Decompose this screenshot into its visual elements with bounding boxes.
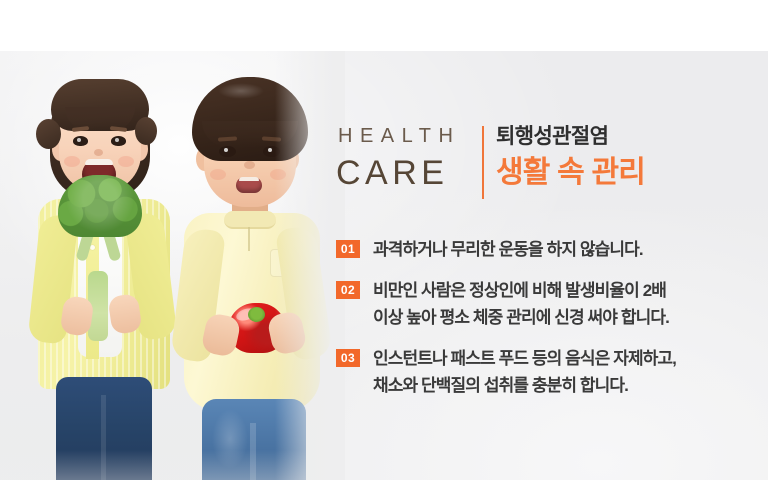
boy-hair-highlight (218, 83, 264, 99)
title-vertical-divider (482, 126, 484, 199)
brand-lockup: HEALTH CARE (336, 124, 472, 193)
girl-cheek-right (118, 156, 134, 167)
list-item: 02 비만인 사람은 정상인에 비해 발생비율이 2배 이상 높아 평소 체중 … (336, 277, 756, 331)
girl-hair-bun-left (36, 119, 61, 149)
children-photo (0, 51, 345, 480)
status-badge: 03 (336, 349, 360, 367)
girl-eye-right (111, 136, 126, 146)
boy-cheek-left (210, 169, 226, 180)
girl-eye-left (73, 136, 88, 146)
boy-nose (244, 161, 255, 169)
brand-line-health: HEALTH (338, 124, 472, 148)
photo-right-fade (275, 51, 345, 480)
banner-top-white-strip (0, 0, 768, 51)
bullet-line: 과격하거나 무리한 운동을 하지 않습니다. (373, 236, 643, 263)
bullet-text-2: 비만인 사람은 정상인에 비해 발생비율이 2배 이상 높아 평소 체중 관리에… (373, 277, 669, 331)
bullet-list: 01 과격하거나 무리한 운동을 하지 않습니다. 02 비만인 사람은 정상인… (336, 236, 756, 399)
boy-mouth (236, 177, 262, 193)
brand-line-care: CARE (336, 153, 472, 193)
bullet-line: 채소와 단백질의 섭취를 충분히 합니다. (373, 372, 676, 399)
bullet-line: 비만인 사람은 정상인에 비해 발생비율이 2배 (373, 277, 669, 304)
bullet-text-1: 과격하거나 무리한 운동을 하지 않습니다. (373, 236, 643, 263)
banner-title-row: HEALTH CARE 퇴행성관절염 생활 속 관리 (336, 124, 756, 210)
girl-hair-fringe (51, 79, 149, 131)
boy-tshirt-seam (248, 227, 250, 251)
list-item: 01 과격하거나 무리한 운동을 하지 않습니다. (336, 236, 756, 263)
list-item: 03 인스턴트나 패스트 푸드 등의 음식은 자제하고, 채소와 단백질의 섭취… (336, 345, 756, 399)
status-badge: 02 (336, 281, 360, 299)
headline-title: 생활 속 관리 (496, 154, 645, 192)
headline-group: 퇴행성관절염 생활 속 관리 (496, 124, 645, 192)
banner-text-content: HEALTH CARE 퇴행성관절염 생활 속 관리 01 과격하거나 무리한 … (336, 124, 756, 210)
girl-cheek-left (64, 156, 80, 167)
bell-pepper-stem (248, 307, 265, 322)
bullet-line: 인스턴트나 패스트 푸드 등의 음식은 자제하고, (373, 345, 676, 372)
status-badge: 01 (336, 240, 360, 258)
boy-tshirt-collar (224, 211, 276, 229)
broccoli-head (58, 175, 142, 237)
girl-button-1 (90, 245, 95, 250)
photo-bottom-fade (0, 450, 345, 480)
bullet-line: 이상 높아 평소 체중 관리에 신경 써야 합니다. (373, 304, 669, 331)
girl-hair-bun-right (135, 117, 157, 145)
boy-eye-left (219, 146, 236, 157)
health-care-banner: HEALTH CARE 퇴행성관절염 생활 속 관리 01 과격하거나 무리한 … (0, 0, 768, 480)
bullet-text-3: 인스턴트나 패스트 푸드 등의 음식은 자제하고, 채소와 단백질의 섭취를 충… (373, 345, 676, 399)
headline-subtitle: 퇴행성관절염 (496, 124, 645, 150)
girl-nose (94, 149, 103, 156)
